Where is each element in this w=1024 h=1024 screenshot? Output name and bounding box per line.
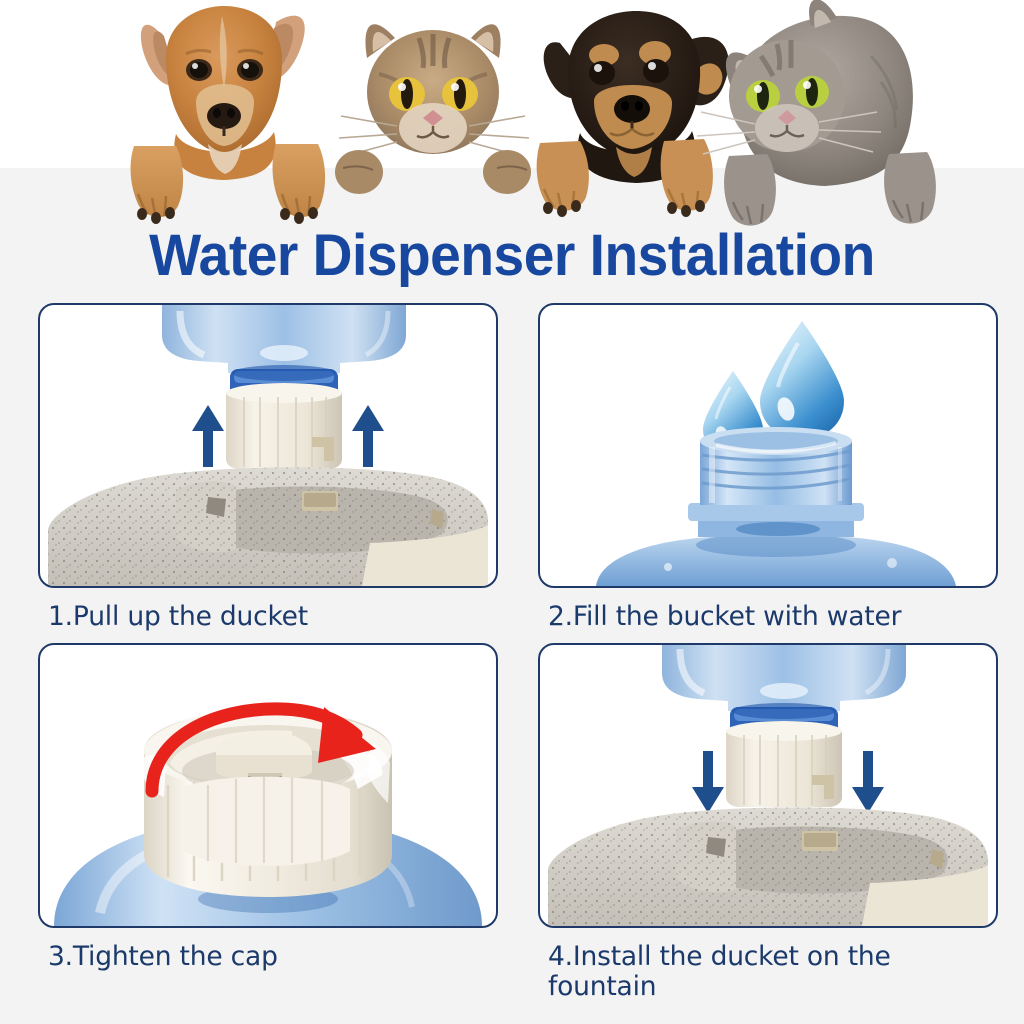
bucket-cap: [726, 721, 842, 807]
step-1-illustration: [38, 303, 498, 588]
step-4-caption: 4.Install the ducket on the fountain: [538, 928, 998, 1003]
pet-gray-cat: [695, 0, 960, 226]
step-2-illustration: [538, 303, 998, 588]
arrow-up-right: [352, 405, 384, 467]
pet-tabby-cat: [333, 0, 538, 196]
fountain-base: [548, 807, 988, 926]
step-3: 3.Tighten the cap: [38, 643, 498, 1003]
step-1-caption: 1.Pull up the ducket: [38, 588, 498, 633]
step-4: 4.Install the ducket on the fountain: [538, 643, 998, 1003]
pet-banner: [0, 0, 1024, 168]
step-3-illustration: [38, 643, 498, 928]
bucket-cap: [226, 383, 342, 469]
arrow-up-left: [192, 405, 224, 467]
pet-brown-dog: [104, 0, 354, 228]
page-title: Water Dispenser Installation: [26, 222, 999, 289]
bottle-neck: [688, 427, 864, 537]
step-1: 1.Pull up the ducket: [38, 303, 498, 633]
step-2: 2.Fill the bucket with water: [538, 303, 998, 633]
arrow-down-left: [692, 751, 724, 813]
step-3-caption: 3.Tighten the cap: [38, 928, 498, 973]
installation-steps-grid: 1.Pull up the ducket: [38, 303, 998, 1003]
fountain-base: [48, 467, 488, 586]
water-drop-large: [760, 321, 844, 439]
step-2-caption: 2.Fill the bucket with water: [538, 588, 998, 633]
bottle-shoulder: [596, 533, 956, 586]
step-4-illustration: [538, 643, 998, 928]
arrow-down-right: [852, 751, 884, 813]
